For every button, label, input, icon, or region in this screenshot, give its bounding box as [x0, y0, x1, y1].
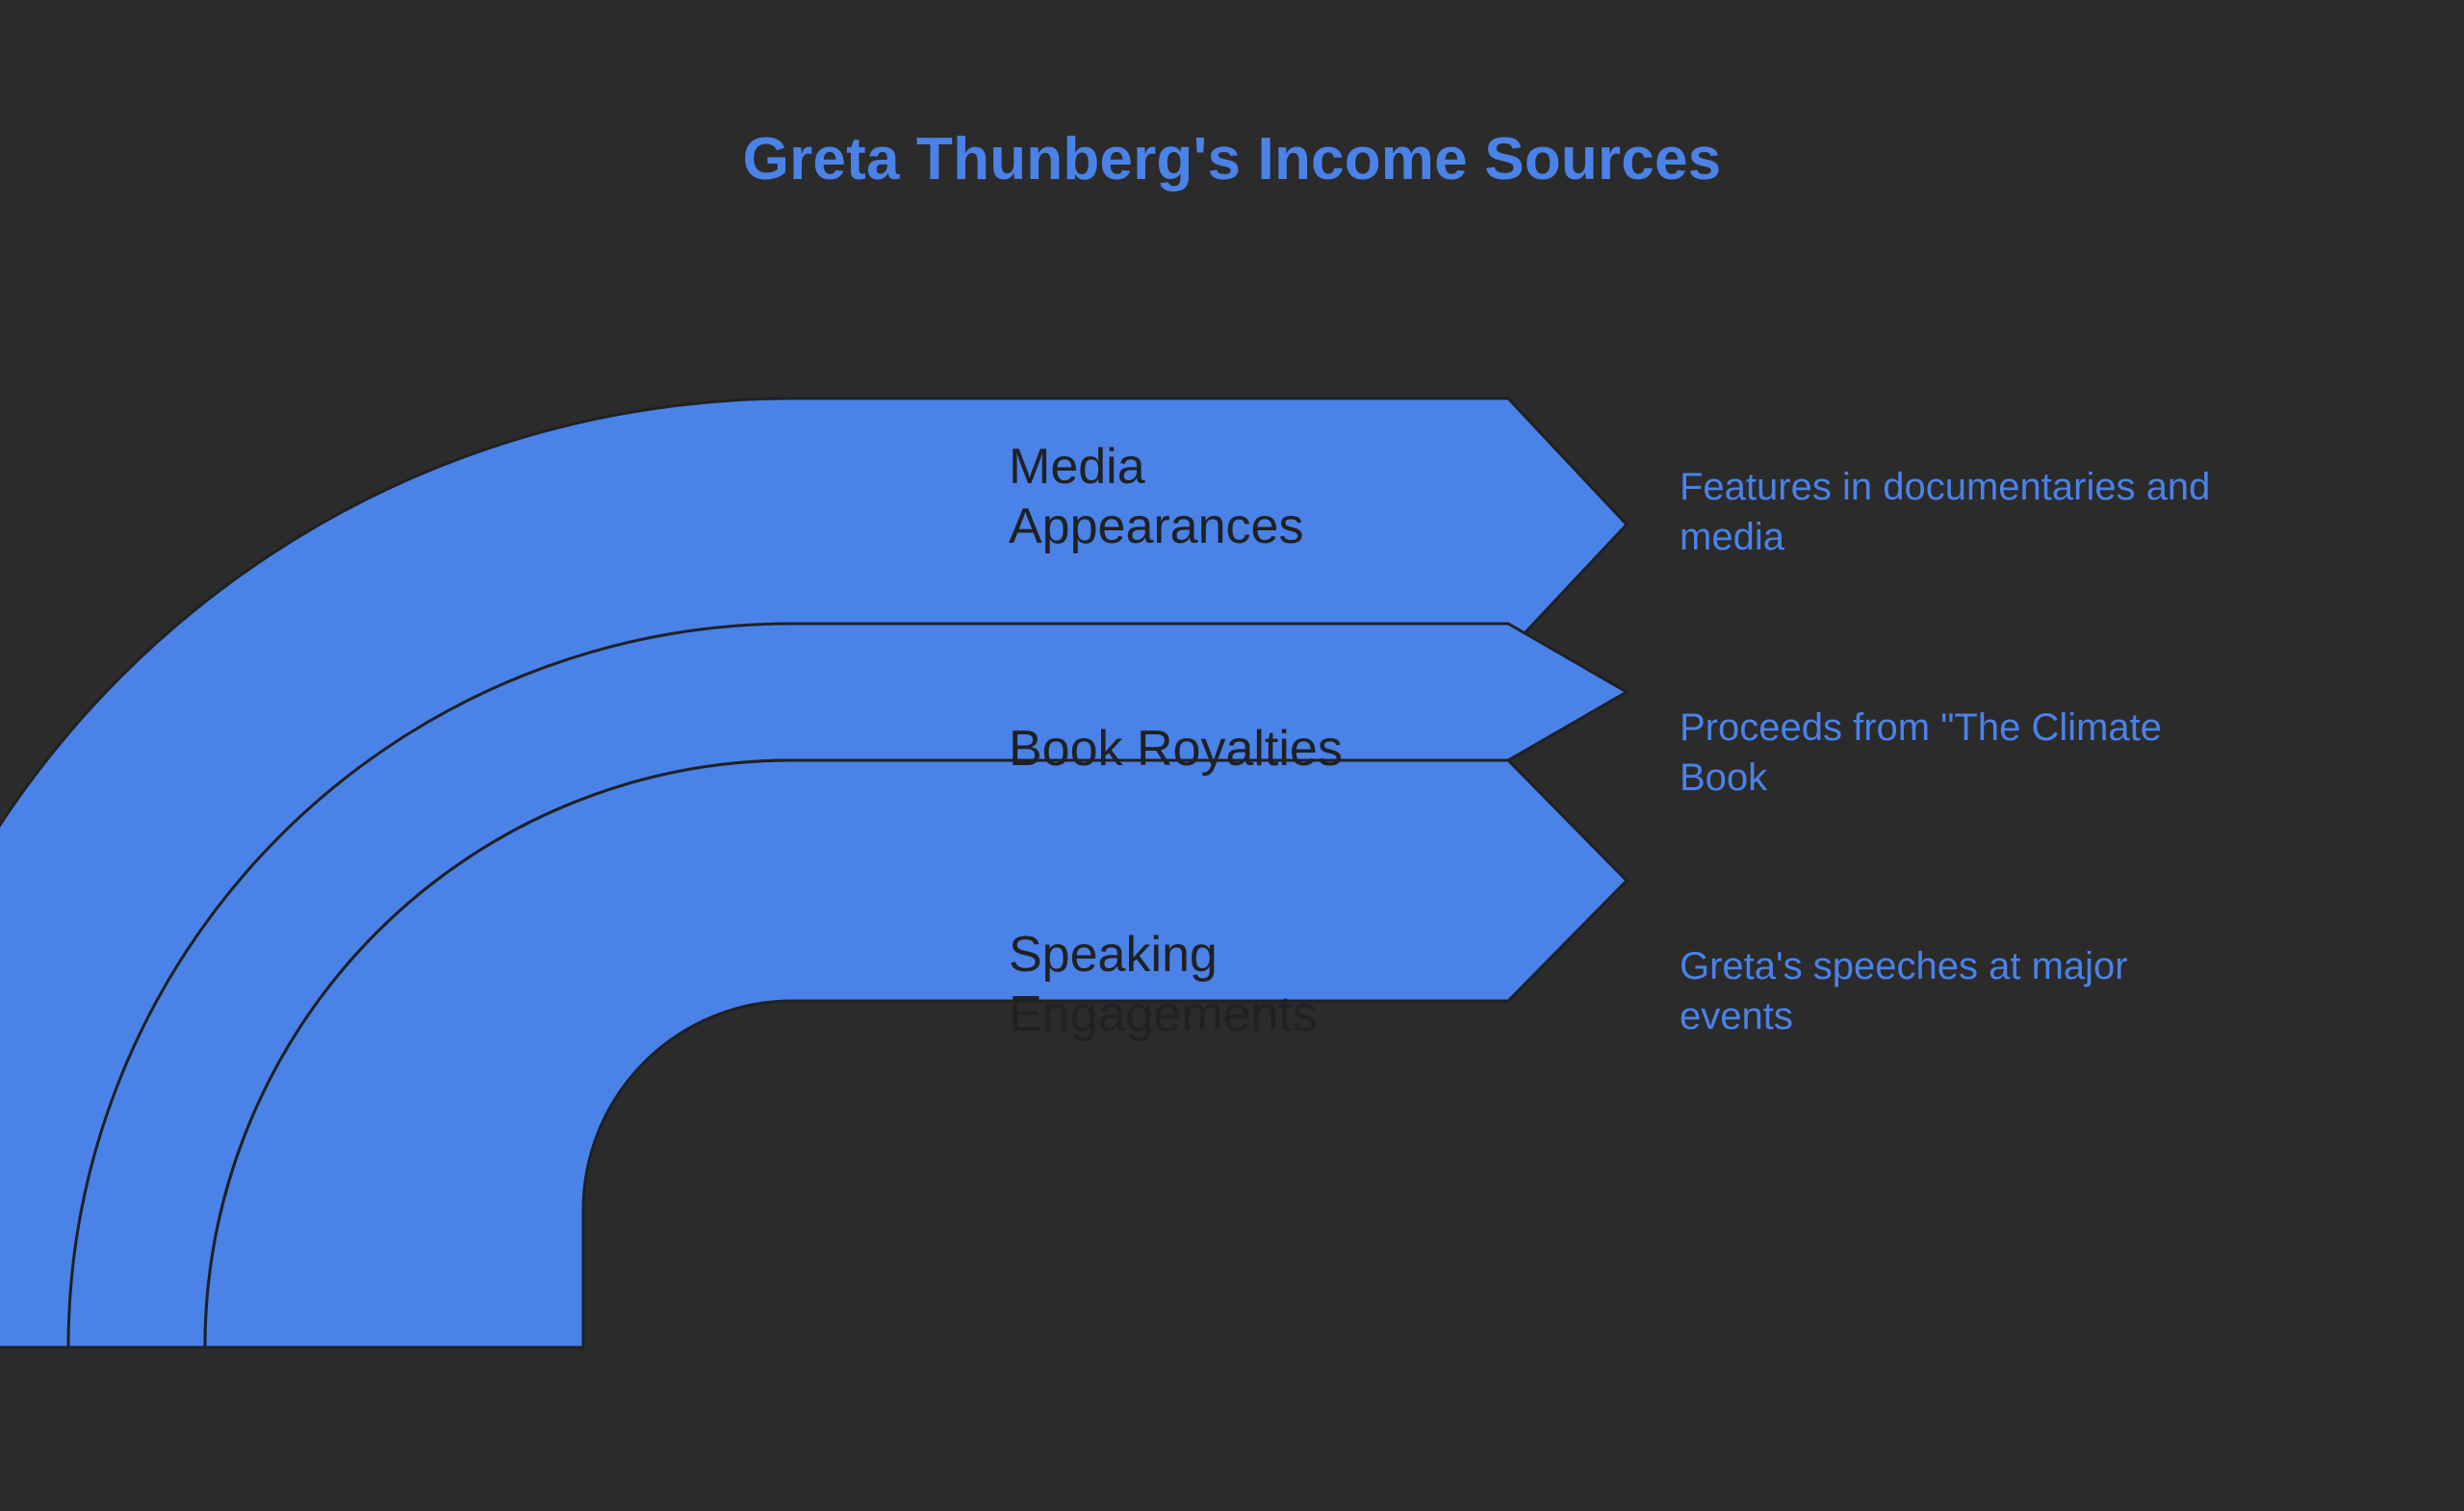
band-label-speaking-engagements: SpeakingEngagements [1009, 926, 1318, 1045]
band-label-line-1: Media [1009, 439, 1145, 495]
band-description-line-2: Book [1680, 756, 1767, 799]
band-label-line-1: Speaking [1009, 927, 1218, 983]
band-label-book-royalties: Book Royalties [1009, 720, 1343, 780]
band-description-book-royalties: Proceeds from "The ClimateBook [1680, 703, 2411, 803]
band-description-media-appearances: Features in documentaries andmedia [1680, 462, 2411, 562]
band-description-line-1: Proceeds from "The Climate [1680, 706, 2162, 749]
band-label-line-2: Engagements [1009, 986, 1318, 1042]
diagram-stage: MediaAppearances Book Royalties Speaking… [0, 0, 2464, 1511]
band-label-line-1: Book Royalties [1009, 721, 1343, 777]
band-description-speaking-engagements: Greta's speeches at majorevents [1680, 941, 2411, 1041]
infographic-root: Greta Thunberg's Income Sources MediaApp… [0, 0, 2464, 1511]
band-description-line-2: media [1680, 516, 1784, 558]
band-description-line-1: Features in documentaries and [1680, 466, 2210, 508]
band-description-line-2: events [1680, 995, 1793, 1037]
band-label-line-2: Appearances [1009, 499, 1303, 554]
band-label-media-appearances: MediaAppearances [1009, 438, 1303, 557]
band-description-line-1: Greta's speeches at major [1680, 945, 2128, 987]
